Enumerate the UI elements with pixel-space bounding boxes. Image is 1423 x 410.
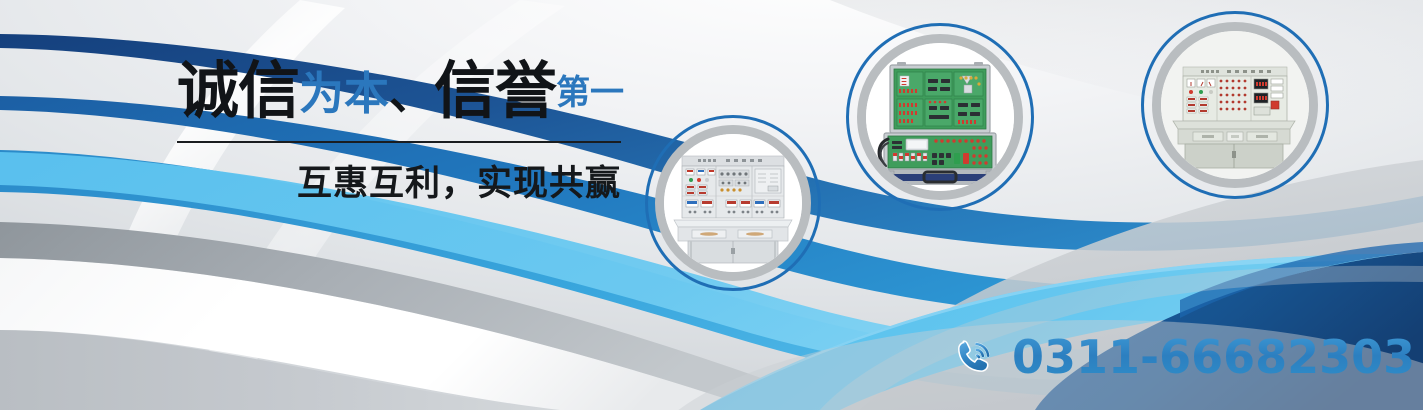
headline-part-3: 信誉 bbox=[434, 54, 556, 127]
product-photo-portable-trainer bbox=[866, 43, 1014, 191]
subtitle: 互惠互利，实现共赢 bbox=[177, 155, 621, 206]
title-divider bbox=[177, 141, 621, 143]
product-photo-workbench-1 bbox=[664, 134, 802, 272]
headline-part-2: 为本 bbox=[299, 67, 389, 120]
product-photo-workbench-2 bbox=[1161, 31, 1309, 179]
phone-handset-icon bbox=[952, 334, 998, 380]
headline-part-1: 诚信 bbox=[177, 54, 299, 127]
contact-phone[interactable]: 0311-66682303 0311-66682303 bbox=[952, 326, 1415, 388]
headline-block: 诚信为本、信誉第一 互惠互利，实现共赢 bbox=[0, 0, 660, 410]
headline-separator: 、 bbox=[389, 67, 434, 120]
headline-part-4: 第一 bbox=[556, 73, 624, 113]
product-circle-2[interactable] bbox=[857, 34, 1023, 200]
product-circle-3[interactable] bbox=[1152, 22, 1318, 188]
product-circle-1[interactable] bbox=[655, 125, 811, 281]
page-title: 诚信为本、信誉第一 bbox=[177, 60, 647, 122]
phone-number[interactable]: 0311-66682303 bbox=[1012, 330, 1415, 384]
promo-banner: 诚信为本、信誉第一 互惠互利，实现共赢 bbox=[0, 0, 1423, 410]
